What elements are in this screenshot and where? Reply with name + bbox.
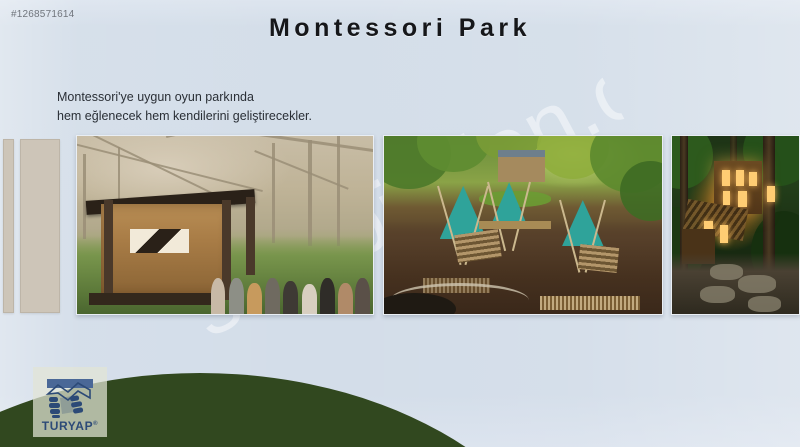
turyap-wordmark: TURYAP [42, 419, 93, 433]
turyap-logo[interactable]: TURYAP® [33, 367, 107, 437]
photo-teepee-playground-canvas [384, 136, 662, 314]
registered-trademark-icon: ® [93, 421, 98, 427]
photo-wooden-playhouse[interactable] [76, 135, 374, 315]
listing-slide: sahibinden.com #1268571614 Montessori Pa… [0, 0, 800, 447]
photo-treehouse-canvas [672, 136, 799, 314]
photo-treehouse[interactable] [671, 135, 800, 315]
photo-children-group [207, 278, 373, 314]
thumbnail-strip-partial-2[interactable] [20, 139, 60, 313]
turyap-logo-text: TURYAP® [42, 420, 98, 432]
photo-lodge-building [498, 150, 545, 182]
photo-wooden-playhouse-canvas [77, 136, 373, 314]
thumbnail-strip-partial-1[interactable] [3, 139, 14, 313]
description-line-2: hem eğlenecek hem kendilerini geliştirec… [57, 107, 312, 126]
photo-teepee-playground[interactable] [383, 135, 663, 315]
description-line-1: Montessori'ye uygun oyun parkında [57, 88, 312, 107]
handshake-icon [44, 378, 96, 418]
page-title: Montessori Park [0, 14, 800, 43]
description-block: Montessori'ye uygun oyun parkında hem eğ… [57, 88, 312, 126]
